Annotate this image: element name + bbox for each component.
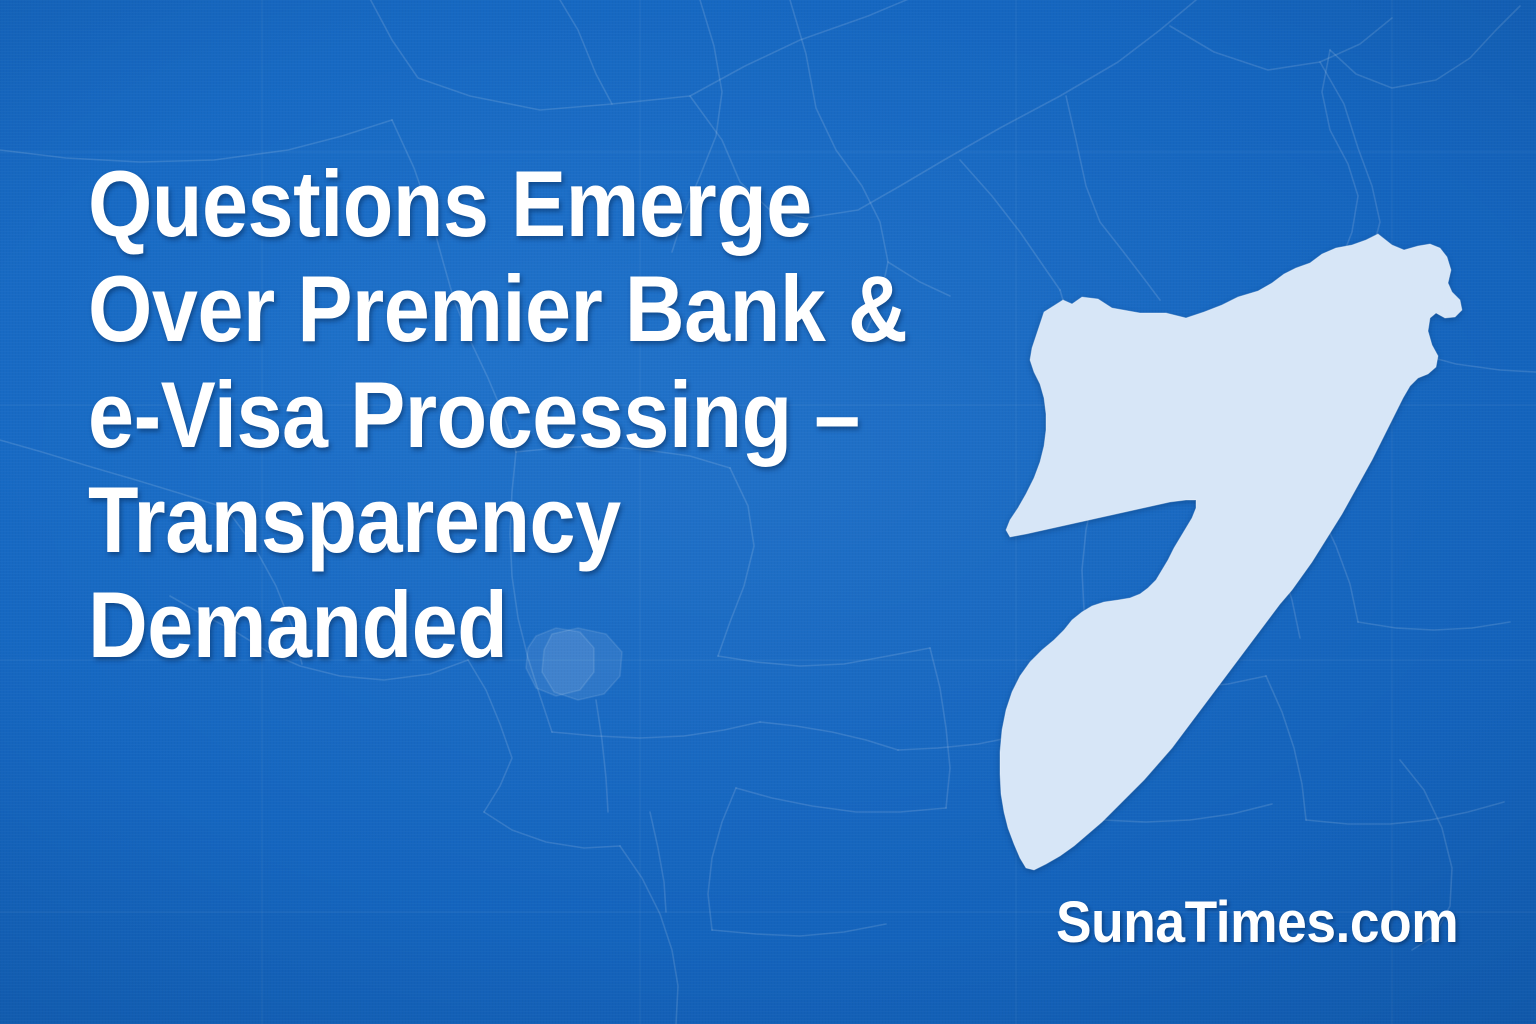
news-graphic-canvas: Questions Emerge Over Premier Bank & e-V… bbox=[0, 0, 1536, 1024]
site-watermark: SunaTimes.com bbox=[1056, 889, 1458, 956]
page-title: Questions Emerge Over Premier Bank & e-V… bbox=[88, 151, 977, 677]
